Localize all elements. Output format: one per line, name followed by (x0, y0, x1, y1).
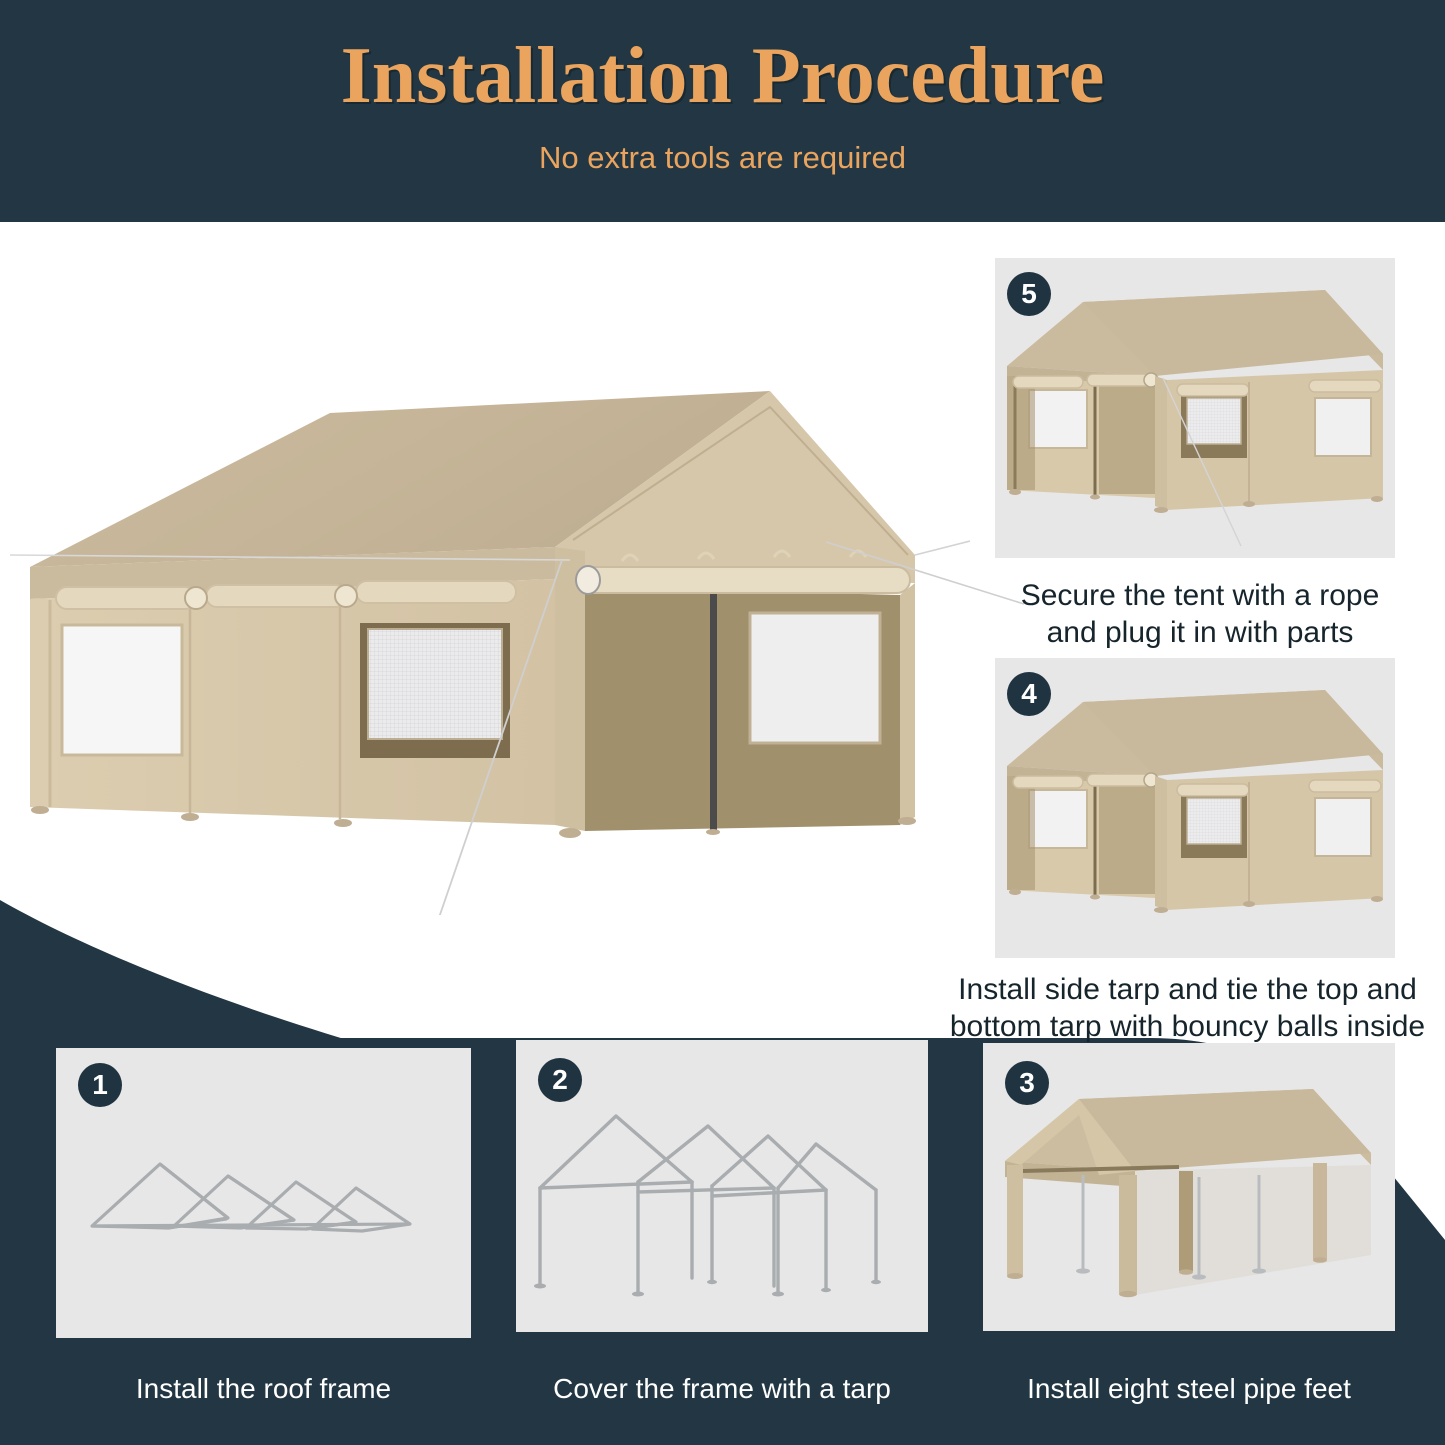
step-2-caption: Cover the frame with a tarp (516, 1372, 928, 1406)
step-5-badge: 5 (1007, 272, 1051, 316)
header-banner: Installation Procedure No extra tools ar… (0, 0, 1445, 222)
step-3-badge: 3 (1005, 1061, 1049, 1105)
step-4-caption-line-2: bottom tarp with bouncy balls inside (930, 1009, 1445, 1046)
step-2-panel: 2 (516, 1040, 928, 1332)
step-5-caption: Secure the tent with a rope and plug it … (975, 578, 1425, 651)
page-title: Installation Procedure (0, 36, 1445, 116)
installation-procedure-infographic: Installation Procedure No extra tools ar… (0, 0, 1445, 1445)
step-5-panel: 5 (995, 258, 1395, 558)
step-1-badge: 1 (78, 1063, 122, 1107)
step-4-caption: Install side tarp and tie the top and bo… (930, 972, 1445, 1045)
step-3-panel: 3 (983, 1043, 1395, 1331)
page-subtitle: No extra tools are required (0, 140, 1445, 176)
step-3-caption: Install eight steel pipe feet (983, 1372, 1395, 1406)
step-1-caption: Install the roof frame (56, 1372, 471, 1406)
step-5-caption-line-2: and plug it in with parts (975, 615, 1425, 652)
step-4-caption-line-1: Install side tarp and tie the top and (930, 972, 1445, 1009)
hero-tent-illustration (10, 355, 970, 915)
step-2-badge: 2 (538, 1058, 582, 1102)
step-5-caption-line-1: Secure the tent with a rope (975, 578, 1425, 615)
step-4-panel: 4 (995, 658, 1395, 958)
step-5-illustration (995, 258, 1395, 558)
step-4-illustration (995, 658, 1395, 958)
step-4-badge: 4 (1007, 672, 1051, 716)
step-1-panel: 1 (56, 1048, 471, 1338)
